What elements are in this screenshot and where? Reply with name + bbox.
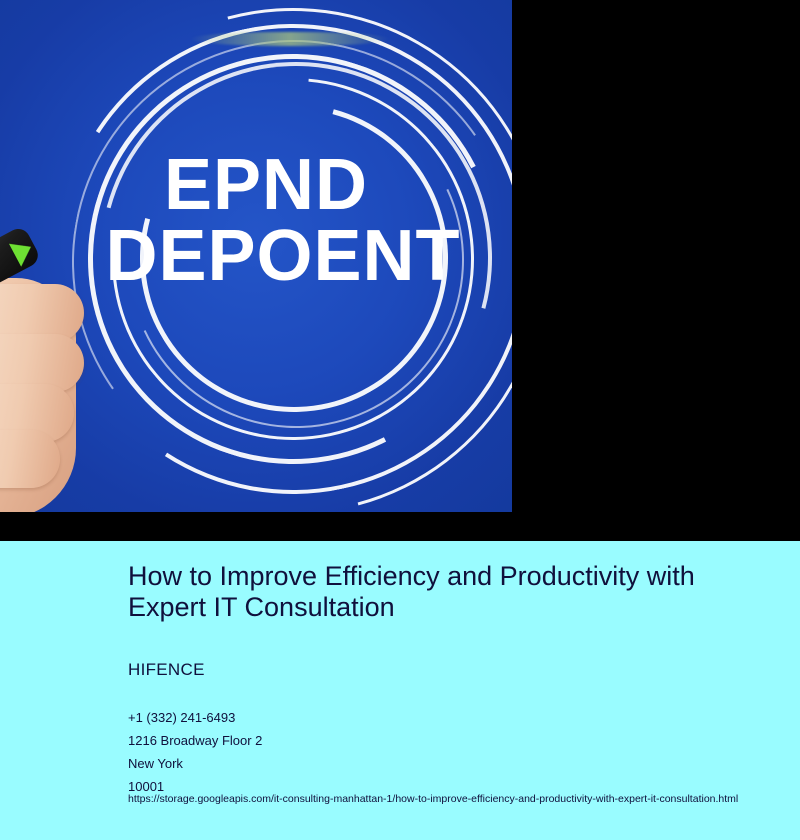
hero-text-line-1: EPND <box>20 150 512 221</box>
finger <box>0 430 60 488</box>
ring-green-tint <box>190 32 390 46</box>
hero-image: EPND DEPOENT <box>0 0 512 512</box>
contact-block: +1 (332) 241-6493 1216 Broadway Floor 2 … <box>128 706 262 798</box>
contact-city: New York <box>128 752 262 775</box>
contact-phone: +1 (332) 241-6493 <box>128 706 262 729</box>
contact-street: 1216 Broadway Floor 2 <box>128 729 262 752</box>
company-name: HIFENCE <box>128 660 205 680</box>
source-url-link[interactable]: https://storage.googleapis.com/it-consul… <box>128 793 738 805</box>
hand-holding-marker <box>0 230 136 512</box>
page-title: How to Improve Efficiency and Productivi… <box>128 561 728 622</box>
info-panel: How to Improve Efficiency and Productivi… <box>0 541 800 840</box>
article-card: EPND DEPOENT How to Improve Efficiency a… <box>0 0 800 840</box>
hero-section: EPND DEPOENT <box>0 0 800 541</box>
